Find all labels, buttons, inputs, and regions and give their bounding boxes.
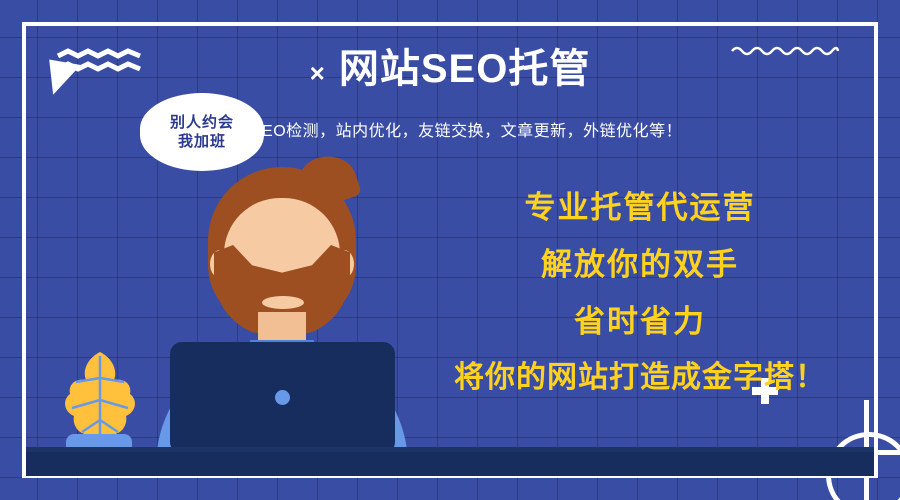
slogan-line: 解放你的双手 — [541, 249, 739, 280]
seo-hosting-poster: × 网站SEO托管 含：SEO检测，站内优化，友链交换，文章更新，外链优化等！ … — [0, 0, 900, 500]
slogan-line: 省时省力 — [574, 306, 706, 337]
speech-bubble-tail — [43, 59, 80, 98]
laptop-logo-icon — [275, 390, 290, 405]
speech-bubble-line-1: 别人约会 — [170, 115, 234, 131]
desk-surface — [26, 452, 874, 476]
mouth — [262, 296, 304, 309]
speech-bubble-line-2: 我加班 — [178, 134, 226, 150]
speech-bubble: 别人约会 我加班 — [140, 93, 264, 171]
slogan-line: 将你的网站打造成金字塔！ — [454, 363, 826, 393]
slogan-line: 专业托管代运营 — [525, 192, 756, 223]
